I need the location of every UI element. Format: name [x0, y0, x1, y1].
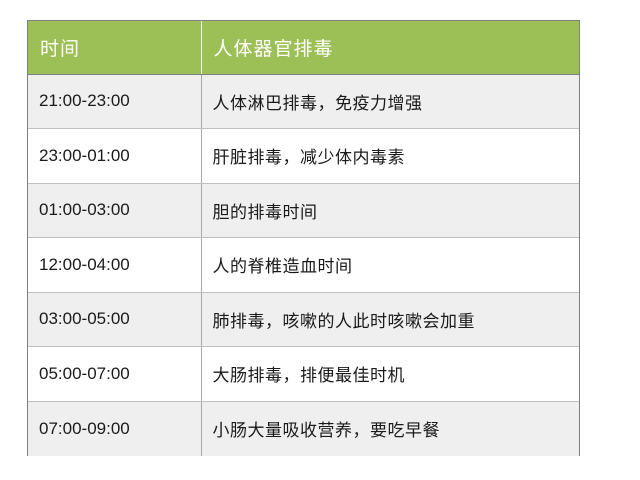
cell-organ-detox: 肺排毒，咳嗽的人此时咳嗽会加重 — [201, 292, 579, 347]
cell-organ-detox: 肝脏排毒，减少体内毒素 — [201, 129, 579, 184]
table-row: 05:00-07:00大肠排毒，排便最佳时机 — [28, 347, 579, 402]
table-row: 21:00-23:00人体淋巴排毒，免疫力增强 — [28, 74, 579, 129]
detox-schedule-table-container: 时间 人体器官排毒 21:00-23:00人体淋巴排毒，免疫力增强23:00-0… — [27, 20, 580, 456]
table-row: 12:00-04:00人的脊椎造血时间 — [28, 238, 579, 293]
cell-organ-detox: 人体淋巴排毒，免疫力增强 — [201, 74, 579, 129]
table-row: 23:00-01:00肝脏排毒，减少体内毒素 — [28, 129, 579, 184]
table-body: 21:00-23:00人体淋巴排毒，免疫力增强23:00-01:00肝脏排毒，减… — [28, 74, 579, 456]
cell-organ-detox: 大肠排毒，排便最佳时机 — [201, 347, 579, 402]
cell-time: 07:00-09:00 — [28, 401, 201, 456]
cell-time: 12:00-04:00 — [28, 238, 201, 293]
cell-organ-detox: 人的脊椎造血时间 — [201, 238, 579, 293]
cell-time: 21:00-23:00 — [28, 74, 201, 129]
table-row: 03:00-05:00肺排毒，咳嗽的人此时咳嗽会加重 — [28, 292, 579, 347]
table-header: 时间 人体器官排毒 — [28, 21, 579, 74]
detox-schedule-table: 时间 人体器官排毒 21:00-23:00人体淋巴排毒，免疫力增强23:00-0… — [28, 21, 579, 456]
cell-time: 03:00-05:00 — [28, 292, 201, 347]
cell-time: 23:00-01:00 — [28, 129, 201, 184]
cell-time: 01:00-03:00 — [28, 183, 201, 238]
column-header-organ-detox: 人体器官排毒 — [201, 21, 579, 74]
cell-organ-detox: 胆的排毒时间 — [201, 183, 579, 238]
cell-time: 05:00-07:00 — [28, 347, 201, 402]
table-row: 07:00-09:00小肠大量吸收营养，要吃早餐 — [28, 401, 579, 456]
table-header-row: 时间 人体器官排毒 — [28, 21, 579, 74]
table-row: 01:00-03:00胆的排毒时间 — [28, 183, 579, 238]
column-header-time: 时间 — [28, 21, 201, 74]
cell-organ-detox: 小肠大量吸收营养，要吃早餐 — [201, 401, 579, 456]
